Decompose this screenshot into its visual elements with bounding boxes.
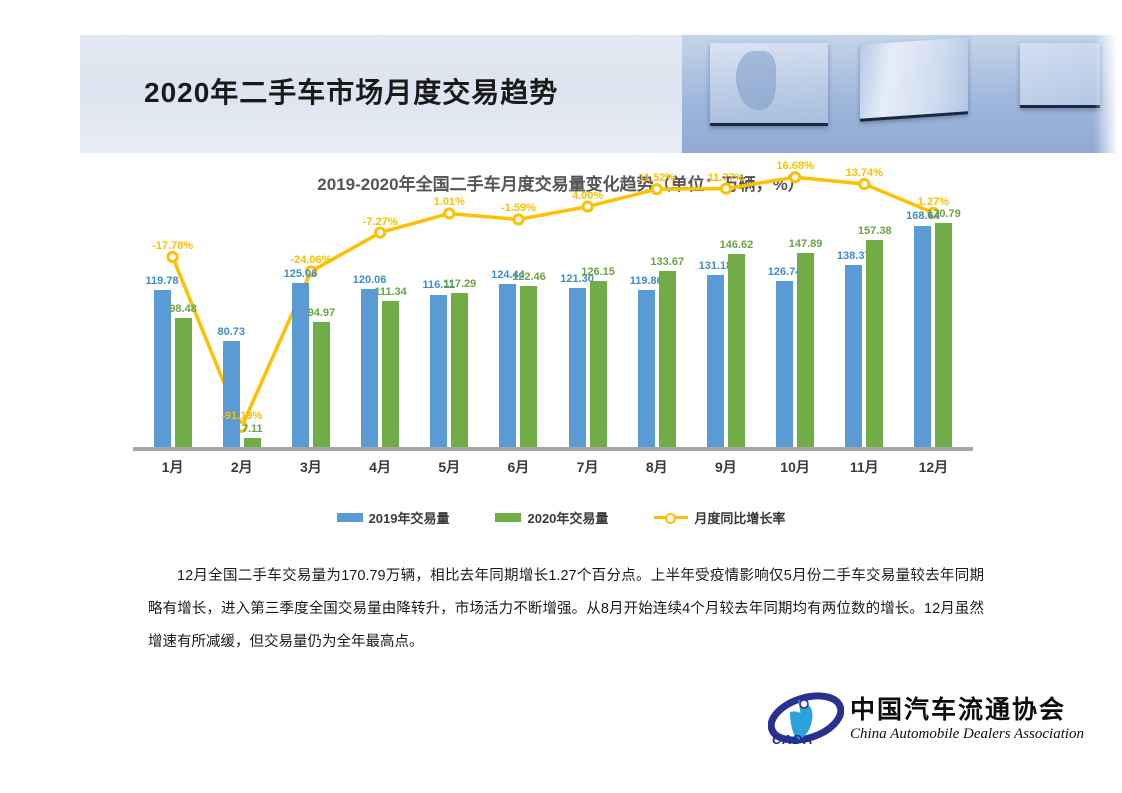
- bar-value-label: 170.79: [924, 208, 964, 220]
- chart-container: 2019-2020年全国二手车月度交易量变化趋势（单位：万辆，%） 119.78…: [80, 170, 1042, 550]
- legend-label: 2019年交易量: [369, 508, 450, 527]
- bar-value-label: 133.67: [647, 256, 687, 268]
- legend-label: 2020年交易量: [527, 508, 608, 527]
- x-axis-tick-2月: 2月: [207, 457, 276, 477]
- growth-rate-label: 1.27%: [903, 196, 963, 208]
- x-axis-tick-8月: 8月: [622, 457, 691, 477]
- growth-rate-label: 16.68%: [765, 160, 825, 172]
- bar-s2019-10月: [776, 281, 793, 447]
- bar-value-label: 125.06: [280, 268, 320, 280]
- x-axis-tick-7月: 7月: [553, 457, 622, 477]
- bar-s2019-11月: [845, 265, 862, 447]
- banner-cube-2: [860, 37, 968, 122]
- growth-rate-label: 4.00%: [558, 190, 618, 202]
- cada-english-name: China Automobile Dealers Association: [850, 726, 1084, 743]
- summary-paragraph: 12月全国二手车交易量为170.79万辆，相比去年同期增长1.27个百分点。上半…: [148, 560, 984, 659]
- bar-value-label: 98.48: [163, 303, 203, 315]
- cada-abbr-text: CADA: [772, 732, 814, 747]
- bar-value-label: 117.29: [440, 278, 480, 290]
- blue-cubes-banner-image: [682, 35, 1122, 153]
- growth-line-marker-11月: [860, 179, 869, 188]
- x-axis-tick-5月: 5月: [415, 457, 484, 477]
- x-axis-tick-9月: 9月: [691, 457, 760, 477]
- banner-cube-3: [1020, 43, 1100, 108]
- bar-s2020-10月: [797, 253, 814, 447]
- header-banner: 2020年二手车市场月度交易趋势: [80, 35, 1122, 153]
- growth-rate-label: 1.01%: [419, 196, 479, 208]
- page-title: 2020年二手车市场月度交易趋势: [144, 71, 558, 111]
- bar-value-label: 80.73: [211, 326, 251, 338]
- bar-s2019-9月: [707, 275, 724, 447]
- legend-item-0[interactable]: 2019年交易量: [337, 508, 450, 527]
- growth-rate-label: -17.78%: [143, 240, 203, 252]
- chart-plot-area: 119.7898.48-17.78%1月80.737.11-91.19%2月12…: [138, 204, 968, 447]
- legend-swatch-line-icon: [654, 512, 688, 523]
- growth-rate-label: -1.59%: [488, 202, 548, 214]
- bar-value-label: 7.11: [232, 423, 272, 435]
- growth-rate-label: 13.74%: [834, 167, 894, 179]
- bar-s2020-6月: [520, 286, 537, 447]
- growth-rate-label: -24.06%: [281, 254, 341, 266]
- chart-legend: 2019年交易量2020年交易量月度同比增长率: [80, 508, 1042, 527]
- bar-s2020-8月: [659, 271, 676, 447]
- cada-chinese-name: 中国汽车流通协会: [850, 690, 1066, 726]
- bar-s2019-4月: [361, 289, 378, 447]
- legend-label: 月度同比增长率: [694, 508, 785, 527]
- x-axis-tick-1月: 1月: [138, 457, 207, 477]
- x-axis-tick-12月: 12月: [899, 457, 968, 477]
- bar-s2019-6月: [499, 284, 516, 447]
- growth-line-marker-4月: [375, 228, 384, 237]
- growth-line-marker-7月: [583, 202, 592, 211]
- growth-rate-label: -7.27%: [350, 216, 410, 228]
- bar-value-label: 120.06: [350, 274, 390, 286]
- cada-logo: CADA 中国汽车流通协会 China Automobile Dealers A…: [768, 688, 1043, 754]
- bar-s2019-7月: [569, 288, 586, 447]
- bar-value-label: 146.62: [716, 239, 756, 251]
- growth-line-marker-9月: [721, 184, 730, 193]
- bar-value-label: 111.34: [371, 286, 411, 298]
- growth-line-marker-10月: [790, 173, 799, 182]
- bar-s2020-1月: [175, 318, 192, 447]
- bar-value-label: 157.38: [855, 225, 895, 237]
- growth-rate-label: -91.19%: [212, 410, 272, 422]
- x-axis-tick-6月: 6月: [484, 457, 553, 477]
- banner-cube-1: [710, 43, 828, 126]
- x-axis-tick-11月: 11月: [830, 457, 899, 477]
- x-axis-line: [133, 447, 973, 451]
- growth-line-marker-6月: [514, 215, 523, 224]
- bar-s2020-11月: [866, 240, 883, 447]
- bar-s2020-7月: [590, 281, 607, 447]
- growth-line-path: [173, 177, 934, 426]
- bar-s2020-9月: [728, 254, 745, 447]
- growth-line-marker-8月: [652, 185, 661, 194]
- x-axis-tick-4月: 4月: [346, 457, 415, 477]
- bar-value-label: 126.15: [578, 266, 618, 278]
- bar-s2019-5月: [430, 295, 447, 448]
- growth-rate-label: 11.77%: [696, 172, 756, 184]
- growth-line-marker-1月: [168, 252, 177, 261]
- bar-s2020-5月: [451, 293, 468, 447]
- legend-swatch-blue-icon: [337, 513, 363, 522]
- growth-line-series: [138, 158, 968, 447]
- legend-item-1[interactable]: 2020年交易量: [495, 508, 608, 527]
- growth-rate-label: 11.52%: [627, 172, 687, 184]
- x-axis-tick-10月: 10月: [761, 457, 830, 477]
- bar-s2019-8月: [638, 290, 655, 447]
- bar-s2020-3月: [313, 322, 330, 447]
- bar-value-label: 122.46: [509, 271, 549, 283]
- bar-value-label: 147.89: [786, 238, 826, 250]
- bar-s2020-4月: [382, 301, 399, 447]
- x-axis-tick-3月: 3月: [276, 457, 345, 477]
- legend-swatch-green-icon: [495, 513, 521, 522]
- bar-s2020-2月: [244, 438, 261, 447]
- bar-s2019-12月: [914, 226, 931, 448]
- bar-value-label: 94.97: [301, 307, 341, 319]
- legend-item-2[interactable]: 月度同比增长率: [654, 508, 785, 527]
- bar-s2020-12月: [935, 223, 952, 447]
- bar-value-label: 119.78: [142, 275, 182, 287]
- growth-line-marker-5月: [445, 209, 454, 218]
